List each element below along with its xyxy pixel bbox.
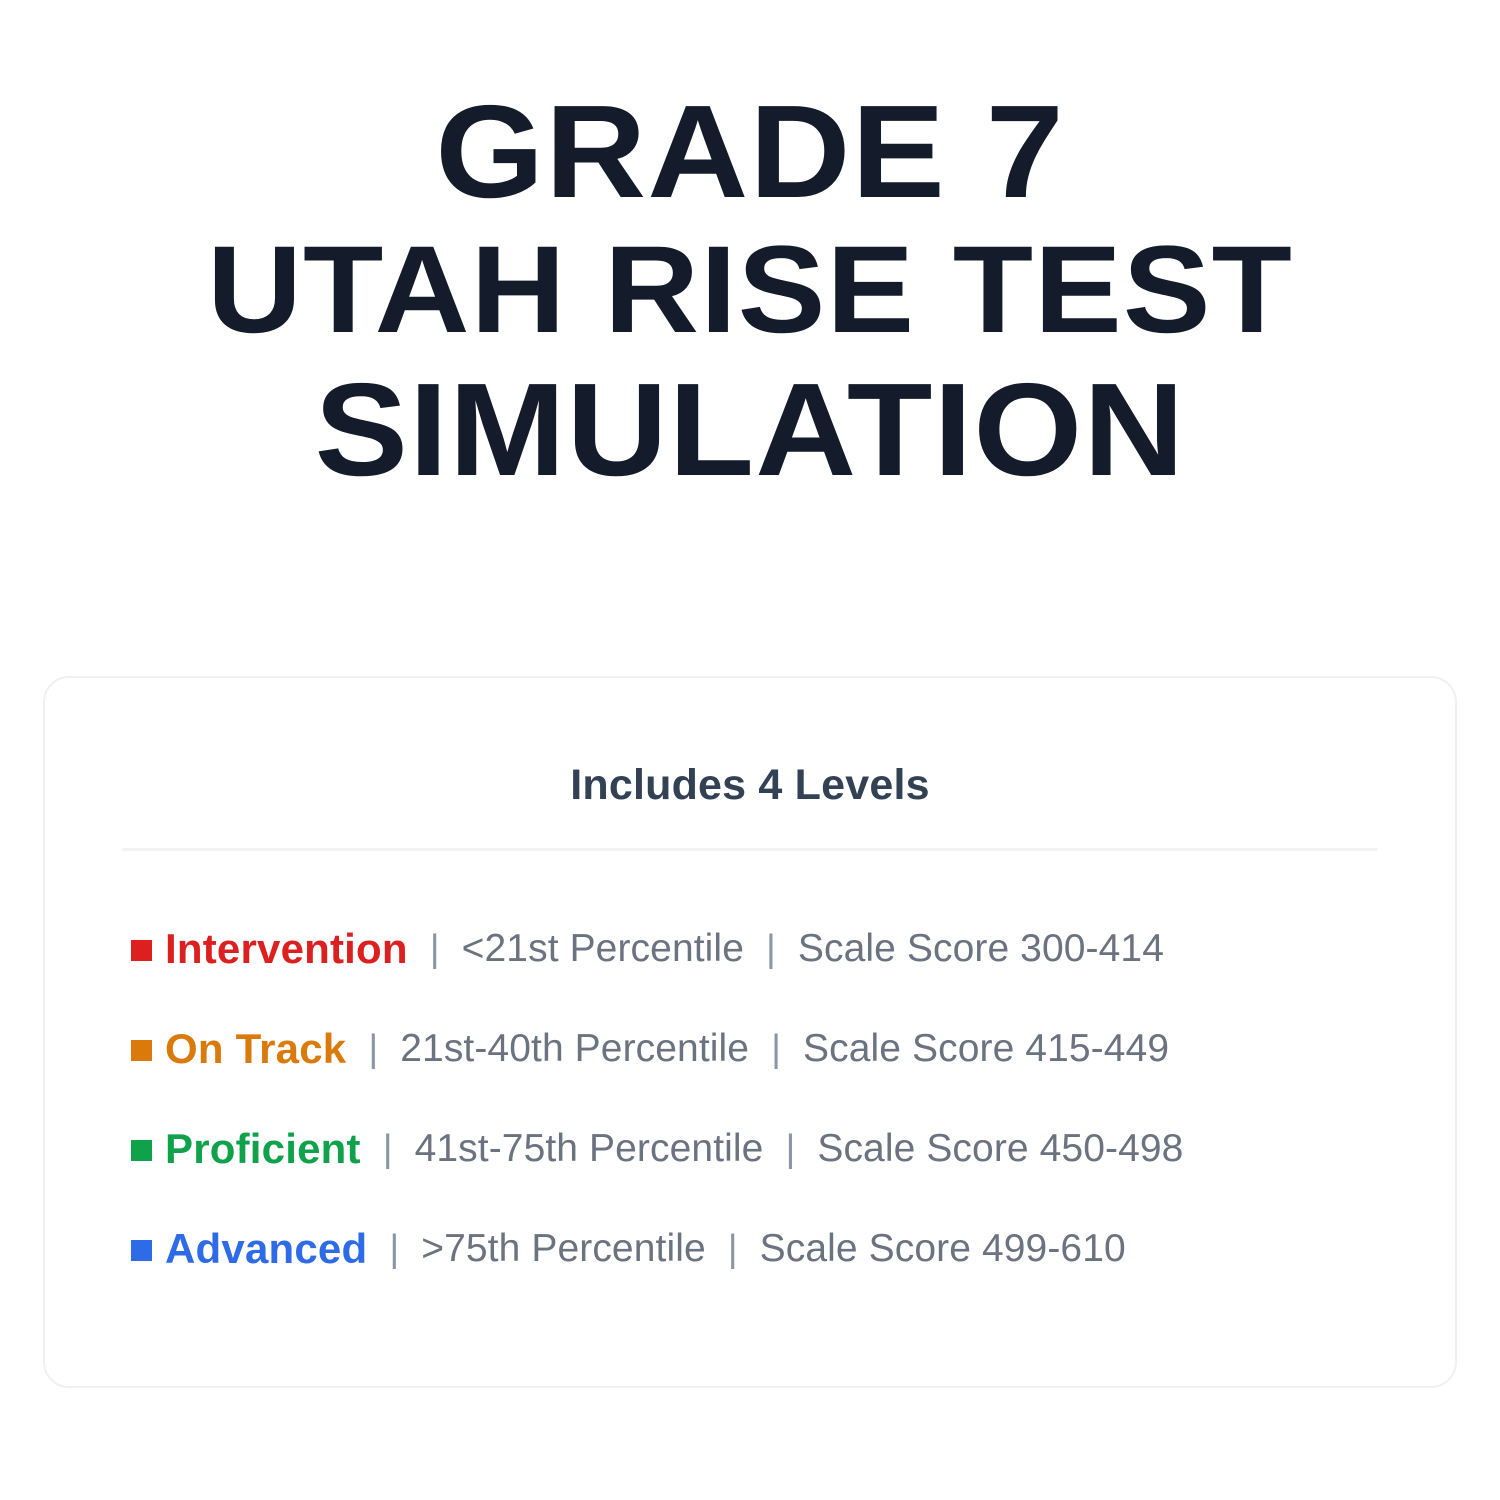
list-item: Intervention | <21st Percentile | Scale … <box>131 899 1164 999</box>
level-separator: | <box>367 1225 421 1273</box>
list-item: On Track | 21st-40th Percentile | Scale … <box>131 999 1169 1099</box>
level-scale-score-advanced: Scale Score 499-610 <box>760 1225 1126 1273</box>
level-scale-score-intervention: Scale Score 300-414 <box>798 925 1164 973</box>
level-separator: | <box>706 1225 760 1273</box>
level-separator: | <box>744 925 798 973</box>
level-percentile-advanced: >75th Percentile <box>421 1225 706 1273</box>
levels-card: Includes 4 Levels Intervention | <21st P… <box>43 676 1457 1388</box>
level-separator: | <box>346 1025 400 1073</box>
level-percentile-proficient: 41st-75th Percentile <box>415 1125 764 1173</box>
card-divider <box>122 848 1378 851</box>
level-percentile-intervention: <21st Percentile <box>462 925 744 973</box>
level-color-swatch-proficient <box>131 1140 152 1161</box>
level-scale-score-on-track: Scale Score 415-449 <box>803 1025 1169 1073</box>
level-scale-score-proficient: Scale Score 450-498 <box>817 1125 1183 1173</box>
level-name-intervention: Intervention <box>165 925 408 973</box>
title-line-grade: GRADE 7 <box>0 82 1500 221</box>
level-color-swatch-on-track <box>131 1040 152 1061</box>
poster-page: GRADE 7 UTAH RISE TEST SIMULATION Includ… <box>0 0 1500 1500</box>
title-line-test: UTAH RISE TEST <box>0 221 1500 360</box>
level-color-swatch-intervention <box>131 940 152 961</box>
levels-list: Intervention | <21st Percentile | Scale … <box>45 899 1455 1299</box>
level-percentile-on-track: 21st-40th Percentile <box>400 1025 749 1073</box>
level-color-swatch-advanced <box>131 1240 152 1261</box>
list-item: Advanced | >75th Percentile | Scale Scor… <box>131 1199 1126 1299</box>
list-item: Proficient | 41st-75th Percentile | Scal… <box>131 1099 1183 1199</box>
level-separator: | <box>361 1125 415 1173</box>
level-separator: | <box>408 925 462 973</box>
level-name-on-track: On Track <box>165 1025 346 1073</box>
card-heading: Includes 4 Levels <box>45 760 1455 810</box>
level-name-proficient: Proficient <box>165 1125 361 1173</box>
level-separator: | <box>749 1025 803 1073</box>
title-line-simulation: SIMULATION <box>0 360 1500 499</box>
level-name-advanced: Advanced <box>165 1225 367 1273</box>
page-title: GRADE 7 UTAH RISE TEST SIMULATION <box>0 82 1500 499</box>
level-separator: | <box>763 1125 817 1173</box>
